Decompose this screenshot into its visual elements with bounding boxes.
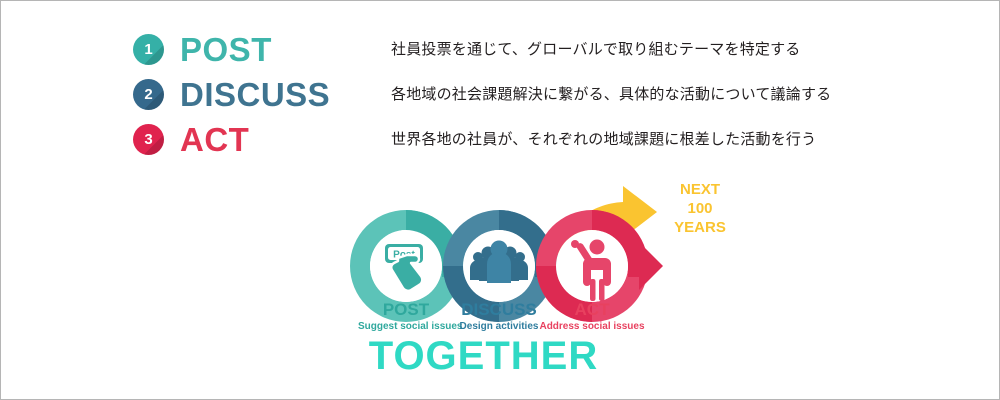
next-years-line-1: NEXT: [659, 181, 741, 200]
stage-label-act: ACT: [539, 301, 645, 320]
stage-label-group-act: ACT Address social issues: [539, 301, 645, 333]
stage-label-post: POST: [358, 301, 454, 320]
steps-list: 1 POST 社員投票を通じて、グローバルで取り組むテーマを特定する 2 DIS…: [133, 27, 923, 162]
step-number-1: 1: [133, 34, 164, 65]
step-title-act: ACT: [180, 123, 249, 156]
step-description-post: 社員投票を通じて、グローバルで取り組むテーマを特定する: [391, 42, 801, 57]
step-badge-2: 2: [133, 79, 164, 110]
step-badge-3: 3: [133, 124, 164, 155]
stage-caption-post: Suggest social issues: [358, 320, 454, 333]
step-description-act: 世界各地の社員が、それぞれの地域課題に根差した活動を行う: [391, 132, 816, 147]
infographic-canvas: 1 POST 社員投票を通じて、グローバルで取り組むテーマを特定する 2 DIS…: [0, 0, 1000, 400]
stage-caption-act: Address social issues: [539, 320, 645, 333]
stage-caption-discuss: Design activities: [449, 320, 549, 333]
stage-label-group-discuss: DISCUSS Design activities: [449, 301, 549, 333]
step-row-post: 1 POST 社員投票を通じて、グローバルで取り組むテーマを特定する: [133, 27, 923, 72]
together-label: TOGETHER: [341, 336, 626, 376]
next-years-label: NEXT 100 YEARS: [659, 181, 741, 237]
next-years-line-2: 100: [659, 200, 741, 219]
stage-label-discuss: DISCUSS: [449, 301, 549, 320]
step-title-discuss: DISCUSS: [180, 78, 330, 111]
step-row-act: 3 ACT 世界各地の社員が、それぞれの地域課題に根差した活動を行う: [133, 117, 923, 162]
cycle-infographic: Post: [341, 176, 741, 391]
step-row-discuss: 2 DISCUSS 各地域の社会課題解決に繋がる、具体的な活動について議論する: [133, 72, 923, 117]
step-number-2: 2: [133, 79, 164, 110]
step-title-post: POST: [180, 33, 272, 66]
stage-label-group-post: POST Suggest social issues: [358, 301, 454, 333]
step-description-discuss: 各地域の社会課題解決に繋がる、具体的な活動について議論する: [391, 87, 831, 102]
step-badge-1: 1: [133, 34, 164, 65]
next-years-line-3: YEARS: [659, 219, 741, 238]
step-number-3: 3: [133, 124, 164, 155]
